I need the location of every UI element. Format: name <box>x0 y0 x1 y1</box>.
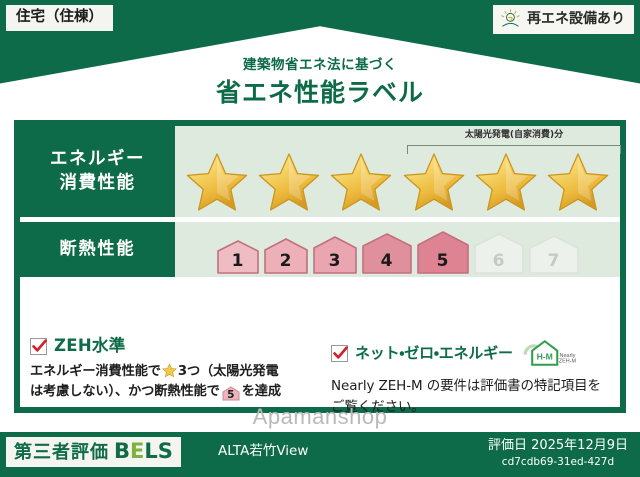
certification-info: ZEH水準 エネルギー消費性能で3つ（太陽光発電は考慮しない）、かつ断熱性能で5… <box>20 327 620 413</box>
net-zero-checkbox <box>331 345 348 362</box>
energy-rating-area: 太陽光発電(自家消費)分 <box>175 126 620 217</box>
bels-letter-b: B <box>114 439 130 463</box>
bels-letter-ls: LS <box>144 439 173 463</box>
net-zero-title: ネット・ゼロ・エネルギー <box>355 345 513 362</box>
building-type-label: 住宅（住棟） <box>16 9 103 25</box>
zeh-desc-part1: エネルギー消費性能で <box>30 364 161 379</box>
insulation-rating-area: 1234567 <box>175 222 620 277</box>
bels-badge: 第三者評価 BELS <box>6 437 181 467</box>
energy-performance-row: エネルギー 消費性能 太陽光発電(自家消費)分 <box>20 126 620 217</box>
insulation-badge-value: 5 <box>437 251 449 271</box>
label-footer: 第三者評価 BELS ALTA若竹View 評価日 2025年12月9日 cd7… <box>0 432 640 477</box>
building-name: ALTA若竹View <box>218 445 308 459</box>
star-icon <box>546 151 610 213</box>
zeh-m-logo-icon: H-M Nearly ZEH-M <box>522 337 580 369</box>
bels-letter-e: E <box>130 439 144 463</box>
sun-solar-icon <box>500 9 522 29</box>
star-icon <box>402 151 466 213</box>
insulation-badge-value: 6 <box>493 251 505 271</box>
bels-jp-label: 第三者評価 <box>14 444 109 462</box>
building-type-tag: 住宅（住棟） <box>6 5 113 31</box>
star-icon <box>257 151 321 213</box>
renewable-equipment-badge: 再エネ設備あり <box>493 5 634 34</box>
insulation-badge: 2 <box>263 237 309 275</box>
energy-label-line2: 消費性能 <box>60 172 136 196</box>
star-icon <box>329 151 393 213</box>
insulation-badge: 3 <box>312 235 358 275</box>
energy-label-line1: エネルギー <box>50 148 145 172</box>
check-icon <box>30 337 49 356</box>
zeh-standard-checkbox <box>30 338 47 355</box>
insulation-badge: 5 <box>416 230 470 275</box>
evaluation-id: cd7cdb69-31ed-427d <box>488 456 628 470</box>
insulation-performance-label: 断熱性能 <box>20 222 175 277</box>
label-title-block: 建築物省エネ法に基づく 省エネ性能ラベル <box>0 57 640 108</box>
zeh-standard-header: ZEH水準 <box>30 337 313 355</box>
energy-performance-label: エネルギー 消費性能 <box>20 126 175 217</box>
evaluation-date: 評価日 2025年12月9日 <box>488 438 628 454</box>
insulation-badge-value: 3 <box>329 251 341 271</box>
insulation-label-text: 断熱性能 <box>60 238 136 261</box>
zeh-desc-stars: 3つ（太陽光発電 <box>178 364 279 379</box>
zeh-desc-part3: を達成 <box>242 384 281 399</box>
ratings-panel: エネルギー 消費性能 太陽光発電(自家消費)分 断熱性能 1234567 <box>14 120 626 413</box>
label-subtitle: 建築物省エネ法に基づく <box>0 57 640 73</box>
logo-caption-2: ZEH-M <box>559 358 577 364</box>
solar-generation-note: 太陽光発電(自家消費)分 <box>405 131 623 141</box>
net-zero-description: Nearly ZEH-M の要件は評価書の特記項目をご覧ください。 <box>331 376 614 417</box>
net-zero-energy-block: ネット・ゼロ・エネルギー H-M Nearly ZEH-M Nearly ZEH… <box>319 327 620 413</box>
insulation-badge-value: 4 <box>381 251 393 271</box>
insulation-badge: 7 <box>528 234 580 275</box>
insulation-badge: 1 <box>216 239 260 275</box>
star-icon <box>474 151 538 213</box>
insulation-badge-value: 7 <box>548 251 560 271</box>
zeh-standard-title: ZEH水準 <box>54 337 126 355</box>
energy-performance-label: 住宅（住棟） 再エネ設備あり 建築物省エネ法に基づく 省エネ性能ラベル エネルギ… <box>0 0 640 477</box>
star-icon <box>185 151 249 213</box>
insulation-badge-value: 2 <box>280 251 292 271</box>
zeh-standard-block: ZEH水準 エネルギー消費性能で3つ（太陽光発電は考慮しない）、かつ断熱性能で5… <box>20 327 319 413</box>
inline-insulation-badge: 5 <box>222 386 240 401</box>
check-icon <box>331 344 350 363</box>
star-rating-group <box>175 151 620 213</box>
bels-en-logo: BELS <box>114 441 173 462</box>
insulation-badge-group: 1234567 <box>175 230 620 275</box>
inline-star-icon <box>162 363 177 378</box>
insulation-badge-value: 1 <box>232 251 244 271</box>
net-zero-header: ネット・ゼロ・エネルギー H-M Nearly ZEH-M <box>331 337 614 369</box>
renewable-badge-label: 再エネ設備あり <box>527 12 625 27</box>
zeh-standard-description: エネルギー消費性能で3つ（太陽光発電は考慮しない）、かつ断熱性能で5を達成 <box>30 362 313 402</box>
zeh-desc-part2: は考慮しない）、かつ断熱性能で <box>30 384 220 399</box>
svg-text:H-M: H-M <box>536 351 552 361</box>
insulation-badge: 4 <box>361 232 413 275</box>
inline-badge-value: 5 <box>227 389 234 401</box>
label-main-title: 省エネ性能ラベル <box>0 78 640 108</box>
insulation-badge: 6 <box>473 232 525 275</box>
insulation-performance-row: 断熱性能 1234567 <box>20 222 620 277</box>
evaluation-info: 評価日 2025年12月9日 cd7cdb69-31ed-427d <box>488 438 628 469</box>
